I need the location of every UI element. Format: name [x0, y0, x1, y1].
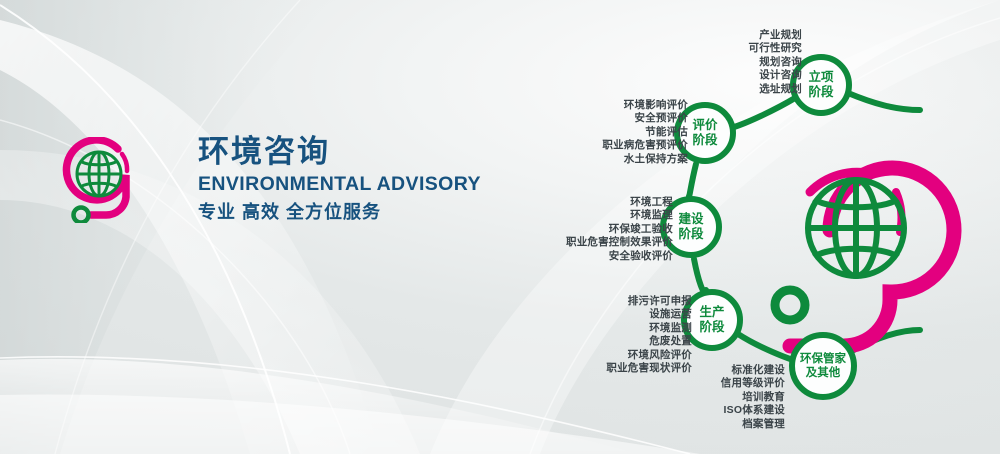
service-item: 环境工程: [566, 196, 673, 209]
service-item: 环境影响评价: [602, 99, 688, 112]
service-item: 危废处置: [606, 335, 692, 348]
service-item: 安全预评价: [602, 112, 688, 125]
node-label-huanbaoguanjia[interactable]: 环保管家 及其他: [800, 352, 846, 380]
service-list-jianshe: 环境工程 环境监理 环保竣工验收 职业危害控制效果评价 安全验收评价: [566, 196, 673, 263]
service-item: 环境风险评价: [606, 349, 692, 362]
service-list-lixiang: 产业规划 可行性研究 规划咨询 设计咨询 选址规划: [749, 29, 803, 96]
node-label-shengchan-line1: 生产: [699, 305, 724, 320]
service-item: 排污许可申报: [606, 295, 692, 308]
service-item: 环境监理: [566, 209, 673, 222]
brand-subtitle: 专业 高效 全方位服务: [198, 199, 481, 225]
node-label-huanbaoguanjia-line1: 环保管家: [800, 352, 846, 366]
service-item: 水土保持方案: [602, 153, 688, 166]
brand-text-group: 环境咨询 ENVIRONMENTAL ADVISORY 专业 高效 全方位服务: [198, 133, 481, 225]
service-item: 标准化建设: [721, 364, 785, 377]
node-label-jianshe-line2: 阶段: [678, 227, 703, 242]
service-item: 产业规划: [749, 29, 803, 42]
node-label-huanbaoguanjia-line2: 及其他: [800, 366, 846, 380]
service-item: 设施运营: [606, 308, 692, 321]
service-item: 信用等级评价: [721, 377, 785, 390]
node-label-pingjia-line1: 评价: [692, 118, 717, 133]
node-label-lixiang-line1: 立项: [808, 70, 833, 85]
brand-block: 环境咨询 ENVIRONMENTAL ADVISORY 专业 高效 全方位服务: [60, 133, 480, 238]
node-label-shengchan-line2: 阶段: [699, 320, 724, 335]
banner-root: 环境咨询 ENVIRONMENTAL ADVISORY 专业 高效 全方位服务: [0, 0, 1000, 454]
node-label-jianshe-line1: 建设: [678, 212, 703, 227]
brand-title-en: ENVIRONMENTAL ADVISORY: [198, 171, 481, 197]
service-item: 规划咨询: [749, 56, 803, 69]
service-item: 档案管理: [721, 418, 785, 431]
service-item: 设计咨询: [749, 69, 803, 82]
globe-swoosh-icon: [775, 168, 954, 346]
service-item: 节能评估: [602, 126, 688, 139]
service-list-pingjia: 环境影响评价 安全预评价 节能评估 职业病危害预评价 水土保持方案: [602, 99, 688, 166]
service-item: 职业病危害预评价: [602, 139, 688, 152]
brand-title-cn: 环境咨询: [198, 133, 481, 171]
service-item: 安全验收评价: [566, 250, 673, 263]
service-item: 可行性研究: [749, 42, 803, 55]
service-item: 选址规划: [749, 83, 803, 96]
node-label-pingjia[interactable]: 评价 阶段: [692, 118, 717, 148]
service-item: 职业危害控制效果评价: [566, 236, 673, 249]
node-label-shengchan[interactable]: 生产 阶段: [699, 305, 724, 335]
globe-logo-icon: [60, 137, 142, 223]
service-item: 环境监测: [606, 322, 692, 335]
service-list-shengchan: 排污许可申报 设施运营 环境监测 危废处置 环境风险评价 职业危害现状评价: [606, 295, 692, 375]
process-diagram: 立项 阶段 评价 阶段 建设 阶段 生产 阶段 环保管家 及其他 产业规划 可行…: [500, 0, 1000, 454]
service-item: 环保竣工验收: [566, 223, 673, 236]
service-item: 培训教育: [721, 391, 785, 404]
node-label-lixiang[interactable]: 立项 阶段: [808, 70, 833, 100]
service-item: 职业危害现状评价: [606, 362, 692, 375]
service-list-huanbaoguanjia: 标准化建设 信用等级评价 培训教育 ISO体系建设 档案管理: [721, 364, 785, 431]
node-label-jianshe[interactable]: 建设 阶段: [678, 212, 703, 242]
service-item: ISO体系建设: [721, 404, 785, 417]
node-label-lixiang-line2: 阶段: [808, 85, 833, 100]
node-label-pingjia-line2: 阶段: [692, 133, 717, 148]
